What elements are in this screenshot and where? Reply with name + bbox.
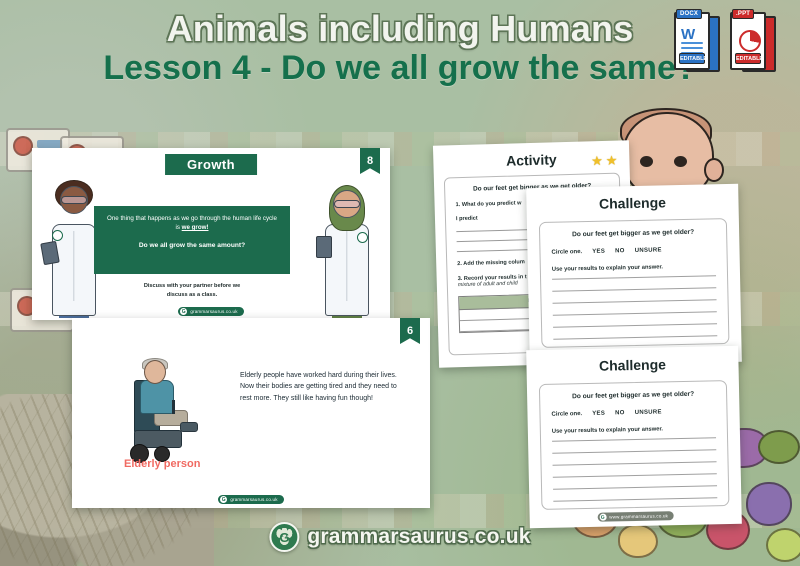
ppt-format-tag: .PPT <box>732 9 754 19</box>
child-eye <box>640 156 653 167</box>
slide-footer-logo: G grammarsaurus.co.uk <box>178 307 243 316</box>
slide-preview-growth[interactable]: 8 Growth One thing that happens as we go… <box>32 148 390 320</box>
worksheet-footer-logo-text: www.grammarsaurus.co.uk <box>609 513 668 519</box>
challenge-circle-label: Circle one. <box>551 411 582 418</box>
slide-footer-logo-text: grammarsaurus.co.uk <box>190 309 237 314</box>
slide-number-badge: 8 <box>360 148 380 174</box>
challenge-question: Do our feet get bigger as we get older? <box>551 390 715 400</box>
brand-name: grammarsaurus.co.uk <box>307 525 530 549</box>
logo-mark: G <box>180 308 187 315</box>
growth-note-line-1: Discuss with your partner before we <box>94 282 290 291</box>
challenge-answer-lines <box>552 275 717 339</box>
writing-line[interactable] <box>553 335 717 339</box>
slide-elderly-label: Elderly person <box>124 458 200 470</box>
challenge-option-no[interactable]: NO <box>615 410 625 416</box>
clipboard-icon <box>316 236 332 258</box>
writing-line[interactable] <box>553 311 717 315</box>
challenge-option-yes[interactable]: YES <box>592 249 605 255</box>
slide-preview-elderly-person[interactable]: 6 Elderly people have worked hard during… <box>72 318 430 508</box>
word-mark: W <box>681 26 695 43</box>
challenge-answer-lines <box>552 437 717 501</box>
challenge-circle-label: Circle one. <box>551 249 582 256</box>
writing-line[interactable] <box>552 275 716 279</box>
difficulty-stars: ★ ★ <box>591 153 618 170</box>
writing-line[interactable] <box>553 299 717 303</box>
goggles-icon <box>334 200 360 208</box>
slide-footer: G grammarsaurus.co.uk <box>72 495 430 504</box>
powerpoint-document-icon[interactable]: EDITABLE .PPT <box>730 12 776 74</box>
slide-title-growth: Growth <box>165 154 257 175</box>
slide-footer-logo: G grammarsaurus.co.uk <box>218 495 283 504</box>
writing-line[interactable] <box>552 449 716 453</box>
challenge-option-no[interactable]: NO <box>615 248 625 254</box>
star-icon: ★ <box>606 153 618 169</box>
pie-chart-icon <box>739 30 761 52</box>
goggles-icon <box>61 196 87 204</box>
writing-line[interactable] <box>553 323 717 327</box>
child-ear <box>704 158 724 182</box>
slide-growth-text-box: One thing that happens as we go through … <box>94 206 290 274</box>
challenge-instruction: Use your results to explain your answer. <box>552 425 716 434</box>
challenge-instruction: Use your results to explain your answer. <box>552 263 716 272</box>
child-eye <box>674 156 687 167</box>
slide-growth-note: Discuss with your partner before we disc… <box>94 282 290 300</box>
word-document-icon[interactable]: W EDITABLE DOCX <box>674 12 720 74</box>
worksheet-title-challenge: Challenge <box>526 184 738 213</box>
writing-line[interactable] <box>553 473 717 477</box>
challenge-option-unsure[interactable]: UNSURE <box>635 247 662 254</box>
writing-line[interactable] <box>553 485 717 489</box>
file-format-badges: W EDITABLE DOCX EDITABLE .PPT <box>674 12 776 74</box>
slide-footer-logo-text: grammarsaurus.co.uk <box>230 497 277 502</box>
slide-footer: G grammarsaurus.co.uk <box>32 307 390 316</box>
writing-line[interactable] <box>553 461 717 465</box>
worksheet-title-challenge: Challenge <box>526 346 738 375</box>
logo-letter: G <box>279 531 289 544</box>
elderly-person-wheelchair-illustration <box>128 360 200 468</box>
writing-line[interactable] <box>553 497 717 501</box>
writing-line[interactable] <box>552 437 716 441</box>
worksheet-footer: G www.grammarsaurus.co.uk <box>530 510 742 523</box>
growth-body-line-2: Do we all grow the same amount? <box>105 242 279 249</box>
docx-editable-label: EDITABLE <box>679 53 705 64</box>
challenge-body: Do our feet get bigger as we get older? … <box>539 218 730 348</box>
writing-line[interactable] <box>552 287 716 291</box>
slide-number-badge: 6 <box>400 318 420 344</box>
logo-mark: G <box>220 496 227 503</box>
star-icon: ★ <box>591 153 603 169</box>
worksheet-footer-logo: G www.grammarsaurus.co.uk <box>597 511 674 522</box>
growth-body-emphasis: we grow! <box>182 224 209 231</box>
slide-elderly-body: Elderly people have worked hard during t… <box>240 370 398 404</box>
challenge-option-yes[interactable]: YES <box>592 411 605 417</box>
challenge-question: Do our feet get bigger as we get older? <box>551 228 715 238</box>
challenge-circle-row: Circle one. YES NO UNSURE <box>551 408 715 417</box>
ppt-editable-label: EDITABLE <box>735 53 761 64</box>
worksheet-preview-challenge-1[interactable]: Challenge Do our feet get bigger as we g… <box>526 184 742 366</box>
scientist-illustration-right <box>318 184 376 316</box>
challenge-option-unsure[interactable]: UNSURE <box>635 409 662 416</box>
brand-watermark[interactable]: G grammarsaurus.co.uk <box>269 522 530 552</box>
logo-mark: G <box>599 514 606 521</box>
challenge-body: Do our feet get bigger as we get older? … <box>539 380 730 510</box>
docx-format-tag: DOCX <box>676 9 702 19</box>
challenge-circle-row: Circle one. YES NO UNSURE <box>551 246 715 255</box>
worksheet-preview-challenge-2[interactable]: Challenge Do our feet get bigger as we g… <box>526 346 742 528</box>
growth-note-line-2: discuss as a class. <box>94 291 290 300</box>
grammarsaurus-logo-icon: G <box>269 522 299 552</box>
